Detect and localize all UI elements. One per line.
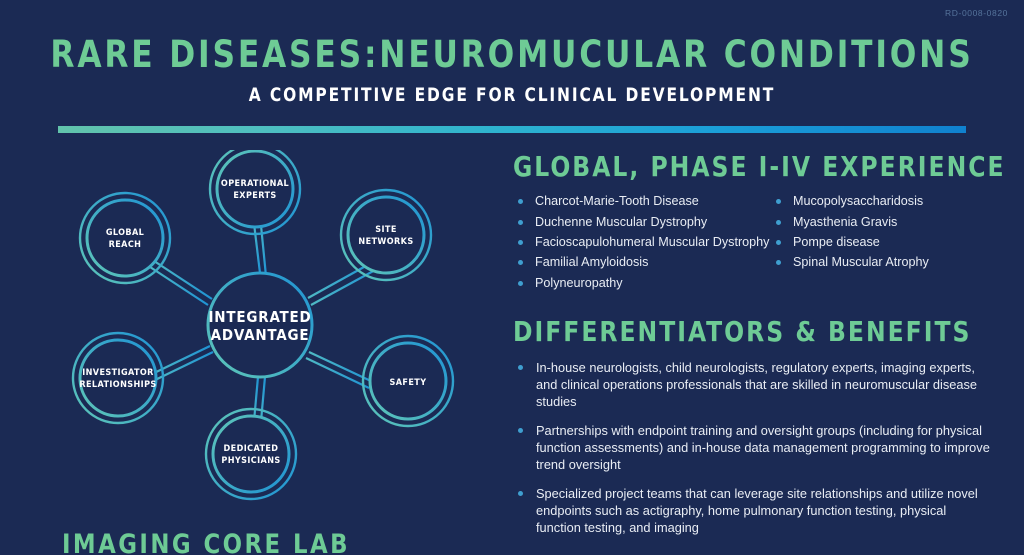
differentiators-list: In-house neurologists, child neurologist…: [513, 359, 993, 536]
center-label-line2: ADVANTAGE: [211, 326, 310, 344]
node-dedicated-physicians-line2: PHYSICIANS: [221, 456, 280, 466]
disease-list-left-column: Charcot-Marie-Tooth Disease Duchenne Mus…: [513, 193, 771, 295]
node-safety-line1: SAFETY: [390, 378, 427, 388]
node-investigator-relationships-line2: RELATIONSHIPS: [79, 380, 156, 390]
node-global-reach-line2: REACH: [109, 240, 142, 250]
node-integrated-advantage: INTEGRATED ADVANTAGE: [208, 273, 312, 377]
node-operational-experts: OPERATIONAL EXPERTS: [210, 150, 300, 234]
node-site-networks: SITE NETWORKS: [341, 190, 431, 280]
poster-header: RARE DISEASES:NEUROMUCULAR CONDITIONS A …: [0, 36, 1024, 106]
node-global-reach-line1: GLOBAL: [106, 228, 144, 238]
page-subtitle: A COMPETITIVE EDGE FOR CLINICAL DEVELOPM…: [36, 85, 988, 106]
node-operational-experts-line1: OPERATIONAL: [221, 179, 289, 189]
disease-list-right: Mucopolysaccharidosis Myasthenia Gravis …: [771, 193, 1013, 270]
center-label-line1: INTEGRATED: [208, 308, 311, 326]
poster-page: RD-0008-0820 RARE DISEASES:NEUROMUCULAR …: [0, 0, 1024, 555]
node-operational-experts-line2: EXPERTS: [233, 191, 276, 201]
header-divider-bar: [58, 126, 966, 133]
list-item: Partnerships with endpoint training and …: [513, 422, 993, 473]
list-item: Pompe disease: [771, 234, 1013, 250]
integrated-advantage-diagram: GLOBAL REACH OPERATIONAL EXPERTS SITE NE…: [55, 150, 485, 510]
disease-list-left: Charcot-Marie-Tooth Disease Duchenne Mus…: [513, 193, 771, 291]
imaging-core-lab-heading: IMAGING CORE LAB: [62, 529, 350, 555]
right-content-column: GLOBAL, PHASE I-IV EXPERIENCE Charcot-Ma…: [513, 152, 1013, 548]
node-dedicated-physicians-line1: DEDICATED: [224, 444, 279, 454]
node-safety: SAFETY: [363, 336, 453, 426]
node-investigator-relationships: INVESTIGATOR RELATIONSHIPS: [73, 333, 163, 423]
differentiators-list-wrapper: In-house neurologists, child neurologist…: [513, 359, 993, 536]
list-item: Familial Amyloidosis: [513, 254, 771, 270]
node-investigator-relationships-line1: INVESTIGATOR: [82, 368, 154, 378]
list-item: Duchenne Muscular Dystrophy: [513, 214, 771, 230]
list-item: Charcot-Marie-Tooth Disease: [513, 193, 771, 209]
node-site-networks-line2: NETWORKS: [358, 237, 413, 247]
document-code: RD-0008-0820: [945, 8, 1008, 18]
node-site-networks-line1: SITE: [375, 225, 397, 235]
list-item: Mucopolysaccharidosis: [771, 193, 1013, 209]
list-item: Polyneuropathy: [513, 275, 771, 291]
differentiators-heading: DIFFERENTIATORS & BENEFITS: [513, 317, 988, 347]
disease-lists: Charcot-Marie-Tooth Disease Duchenne Mus…: [513, 193, 1013, 295]
list-item: Spinal Muscular Atrophy: [771, 254, 1013, 270]
node-global-reach: GLOBAL REACH: [80, 193, 170, 283]
page-title: RARE DISEASES:NEUROMUCULAR CONDITIONS: [31, 36, 994, 75]
list-item: Specialized project teams that can lever…: [513, 485, 993, 536]
list-item: Facioscapulohumeral Muscular Dystrophy: [513, 234, 771, 250]
disease-list-right-column: Mucopolysaccharidosis Myasthenia Gravis …: [771, 193, 1013, 295]
spoke-site-networks-2: [311, 269, 377, 305]
spoke-site-networks: [308, 262, 373, 298]
list-item: In-house neurologists, child neurologist…: [513, 359, 993, 410]
list-item: Myasthenia Gravis: [771, 214, 1013, 230]
spoke-safety-2: [306, 358, 369, 388]
global-experience-heading: GLOBAL, PHASE I-IV EXPERIENCE: [513, 152, 988, 182]
node-dedicated-physicians: DEDICATED PHYSICIANS: [206, 409, 296, 499]
